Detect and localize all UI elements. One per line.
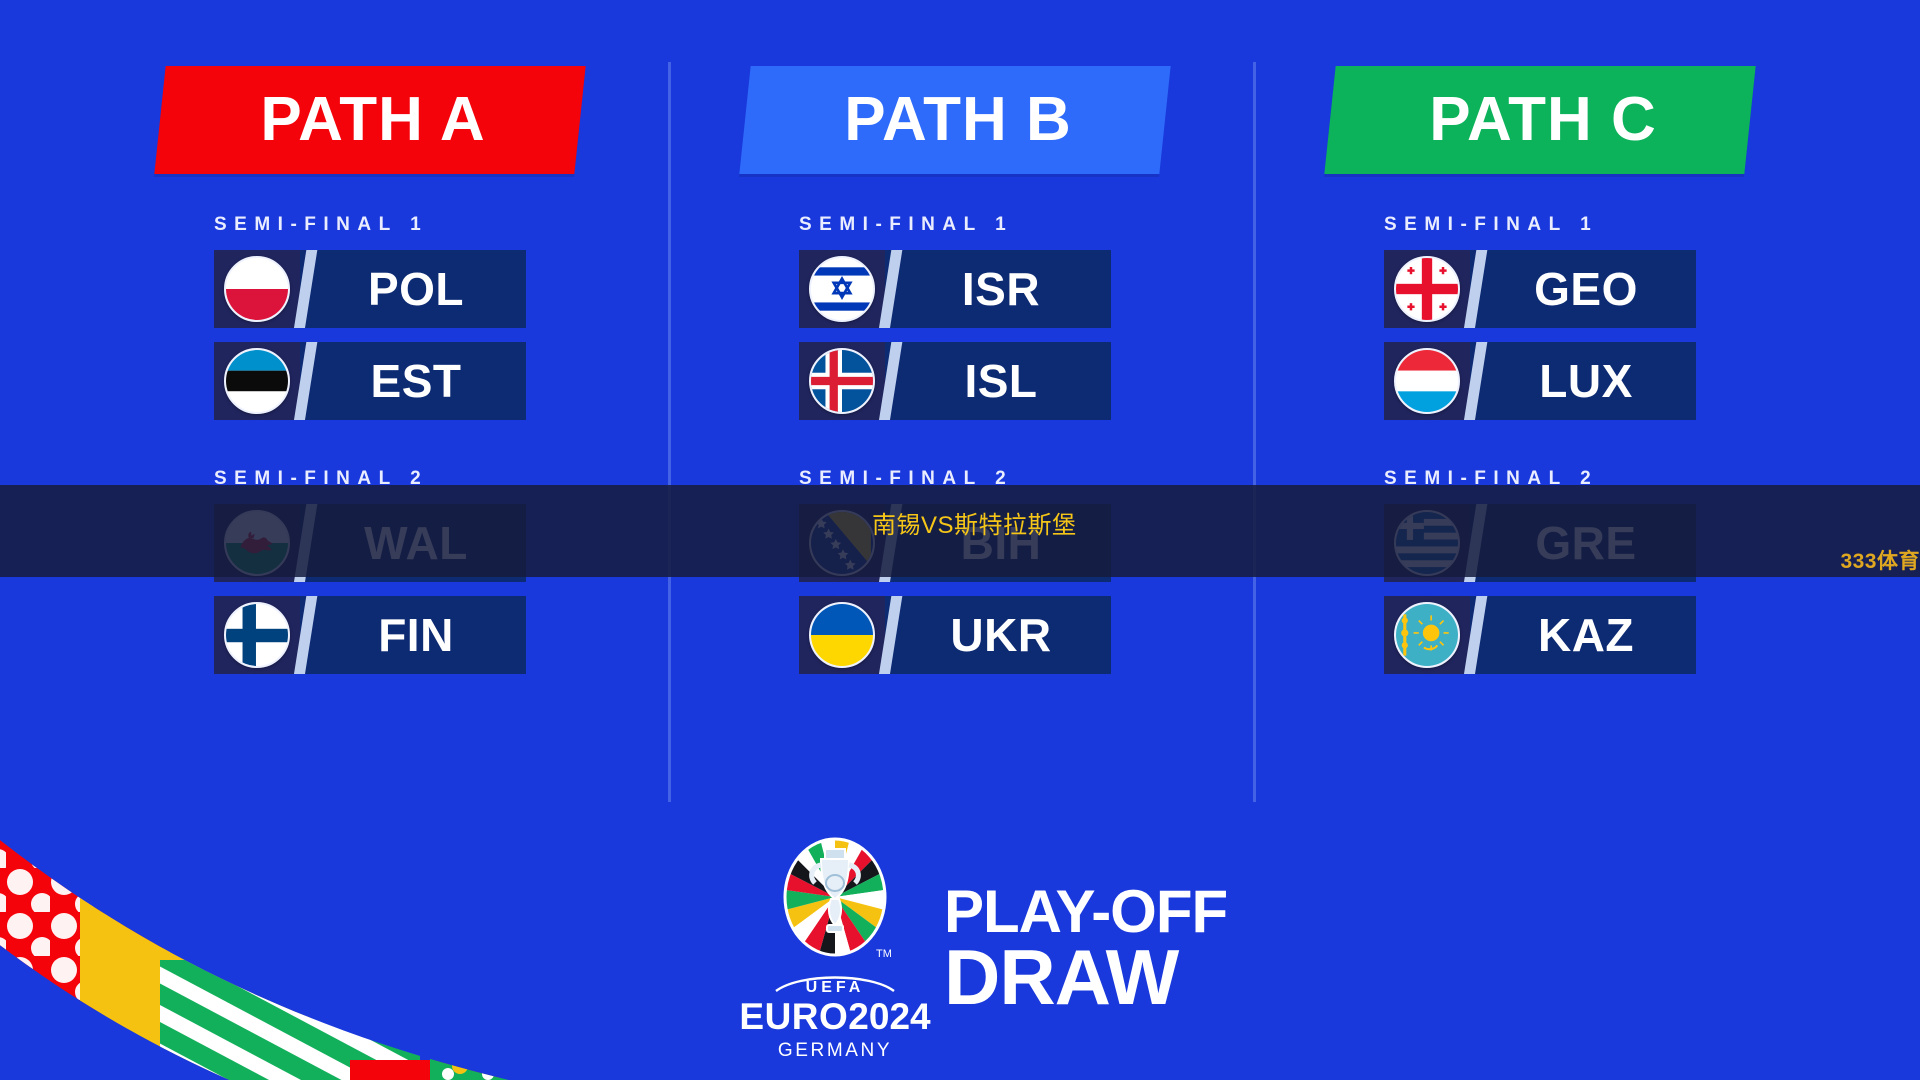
team-code: GEO: [1470, 266, 1696, 312]
euro-year: 2024: [848, 996, 930, 1037]
path-b-banner: PATH B: [739, 66, 1170, 174]
georgia-flag-icon: [1394, 256, 1460, 322]
luxembourg-flag-icon: [1394, 348, 1460, 414]
team-code: LUX: [1470, 358, 1696, 404]
path-a-sf1-team-2-row[interactable]: EST: [214, 342, 526, 420]
path-a-banner: PATH A: [154, 66, 585, 174]
path-c-sf1-team-1-row[interactable]: GEO: [1384, 250, 1696, 328]
ukraine-flag-icon: [809, 602, 875, 668]
path-a-sf1-team-1-row[interactable]: POL: [214, 250, 526, 328]
team-code: POL: [300, 266, 526, 312]
israel-flag-icon: [809, 256, 875, 322]
flag-cell: [214, 250, 300, 328]
euro-year-text: EURO2024: [739, 998, 930, 1035]
team-code: KAZ: [1470, 612, 1696, 658]
svg-text:UEFA: UEFA: [806, 979, 865, 996]
euro-trophy-logo-icon: TM: [779, 835, 891, 967]
flag-cell: [799, 596, 885, 674]
path-c-banner: PATH C: [1324, 66, 1755, 174]
title-line-1: PLAY-OFF: [944, 883, 1227, 940]
host-country-text: GERMANY: [778, 1040, 892, 1062]
path-b-sf1-team-2-row[interactable]: ISL: [799, 342, 1111, 420]
euro-word: EURO: [739, 996, 848, 1037]
path-c-semifinal-1-label: SEMI-FINAL 1: [1330, 214, 1750, 236]
flag-cell: [1384, 250, 1470, 328]
flag-cell: [799, 342, 885, 420]
path-b-title: PATH B: [745, 89, 1165, 151]
column-divider-ab: [668, 62, 671, 802]
path-c-sf1-team-2-row[interactable]: LUX: [1384, 342, 1696, 420]
team-code: FIN: [300, 612, 526, 658]
iceland-flag-icon: [809, 348, 875, 414]
euro-2024-playoff-draw-graphic: PATH A SEMI-FINAL 1 POL EST SEMI-FINAL 2: [0, 0, 1920, 1080]
uefa-wordmark-icon: UEFA: [770, 971, 900, 997]
path-c-title: PATH C: [1330, 89, 1750, 151]
euro-2024-logo: TM UEFA EURO2024 GERMANY: [760, 835, 910, 1062]
overlay-match-label: 南锡VS斯特拉斯堡: [872, 505, 1077, 540]
trademark-text: TM: [876, 948, 891, 960]
play-off-draw-title: PLAY-OFF DRAW: [944, 883, 1227, 1014]
path-b-sf1-team-1-row[interactable]: ISR: [799, 250, 1111, 328]
team-code: EST: [300, 358, 526, 404]
path-a-title: PATH A: [160, 89, 580, 151]
footer-branding: TM UEFA EURO2024 GERMANY PLAY-OFF DRAW: [760, 835, 1227, 1062]
flag-cell: [214, 596, 300, 674]
flag-cell: [1384, 596, 1470, 674]
team-code: UKR: [885, 612, 1111, 658]
poland-flag-icon: [224, 256, 290, 322]
path-a-semifinal-1-label: SEMI-FINAL 1: [160, 214, 580, 236]
team-code: ISR: [885, 266, 1111, 312]
path-b-sf2-team-2-row[interactable]: UKR: [799, 596, 1111, 674]
team-code: ISL: [885, 358, 1111, 404]
flag-cell: [1384, 342, 1470, 420]
kazakhstan-flag-icon: [1394, 602, 1460, 668]
column-divider-bc: [1253, 62, 1256, 802]
flag-cell: [799, 250, 885, 328]
path-b-semifinal-1-label: SEMI-FINAL 1: [745, 214, 1165, 236]
overlay-brand-watermark: 333体育: [1840, 545, 1920, 575]
estonia-flag-icon: [224, 348, 290, 414]
flag-cell: [214, 342, 300, 420]
finland-flag-icon: [224, 602, 290, 668]
title-line-2: DRAW: [944, 940, 1227, 1014]
path-a-sf2-team-2-row[interactable]: FIN: [214, 596, 526, 674]
path-c-sf2-team-2-row[interactable]: KAZ: [1384, 596, 1696, 674]
